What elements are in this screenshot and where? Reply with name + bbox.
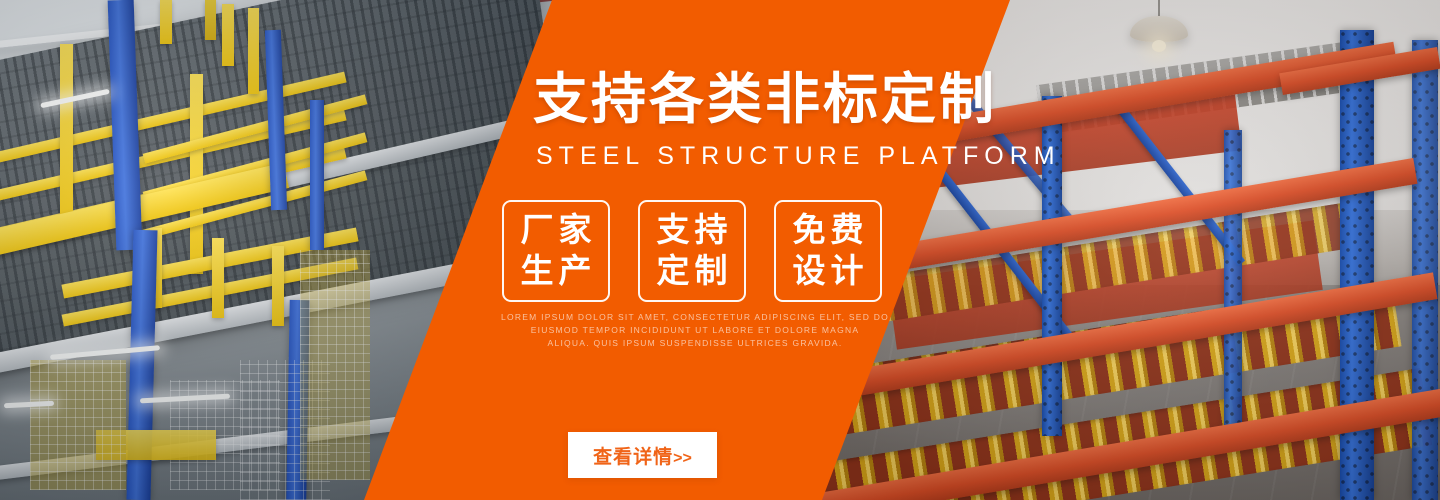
lorem-line-1: LOREM IPSUM DOLOR SIT AMET, CONSECTETUR … [460,311,930,324]
feature-box-line1: 支持 [652,211,733,250]
headline: 支持各类非标定制 [533,72,997,127]
feature-box-line2: 设计 [788,252,869,291]
feature-box-manufacturer: 厂家 生产 [502,200,610,302]
lorem-paragraph: LOREM IPSUM DOLOR SIT AMET, CONSECTETUR … [460,311,930,350]
feature-box-row: 厂家 生产 支持 定制 免费 设计 [502,200,882,302]
view-details-text: 查看详情 [593,447,673,468]
feature-box-customization: 支持 定制 [638,200,746,302]
subheadline: STEEL STRUCTURE PLATFORM [536,144,1061,169]
view-details-label: 查看详情>> [593,442,692,469]
feature-box-line1: 厂家 [516,211,597,250]
promo-banner: 支持各类非标定制 STEEL STRUCTURE PLATFORM 厂家 生产 … [0,0,1440,500]
feature-box-line2: 生产 [516,252,597,291]
chevron-right-icon: >> [673,450,692,467]
banner-content: 支持各类非标定制 STEEL STRUCTURE PLATFORM 厂家 生产 … [0,0,1440,500]
lorem-line-3: ALIQUA. QUIS IPSUM SUSPENDISSE ULTRICES … [460,337,930,350]
feature-box-line2: 定制 [652,252,733,291]
feature-box-line1: 免费 [788,211,869,250]
lorem-line-2: EIUSMOD TEMPOR INCIDIDUNT UT LABORE ET D… [460,324,930,337]
view-details-button[interactable]: 查看详情>> [568,432,717,478]
feature-box-free-design: 免费 设计 [774,200,882,302]
